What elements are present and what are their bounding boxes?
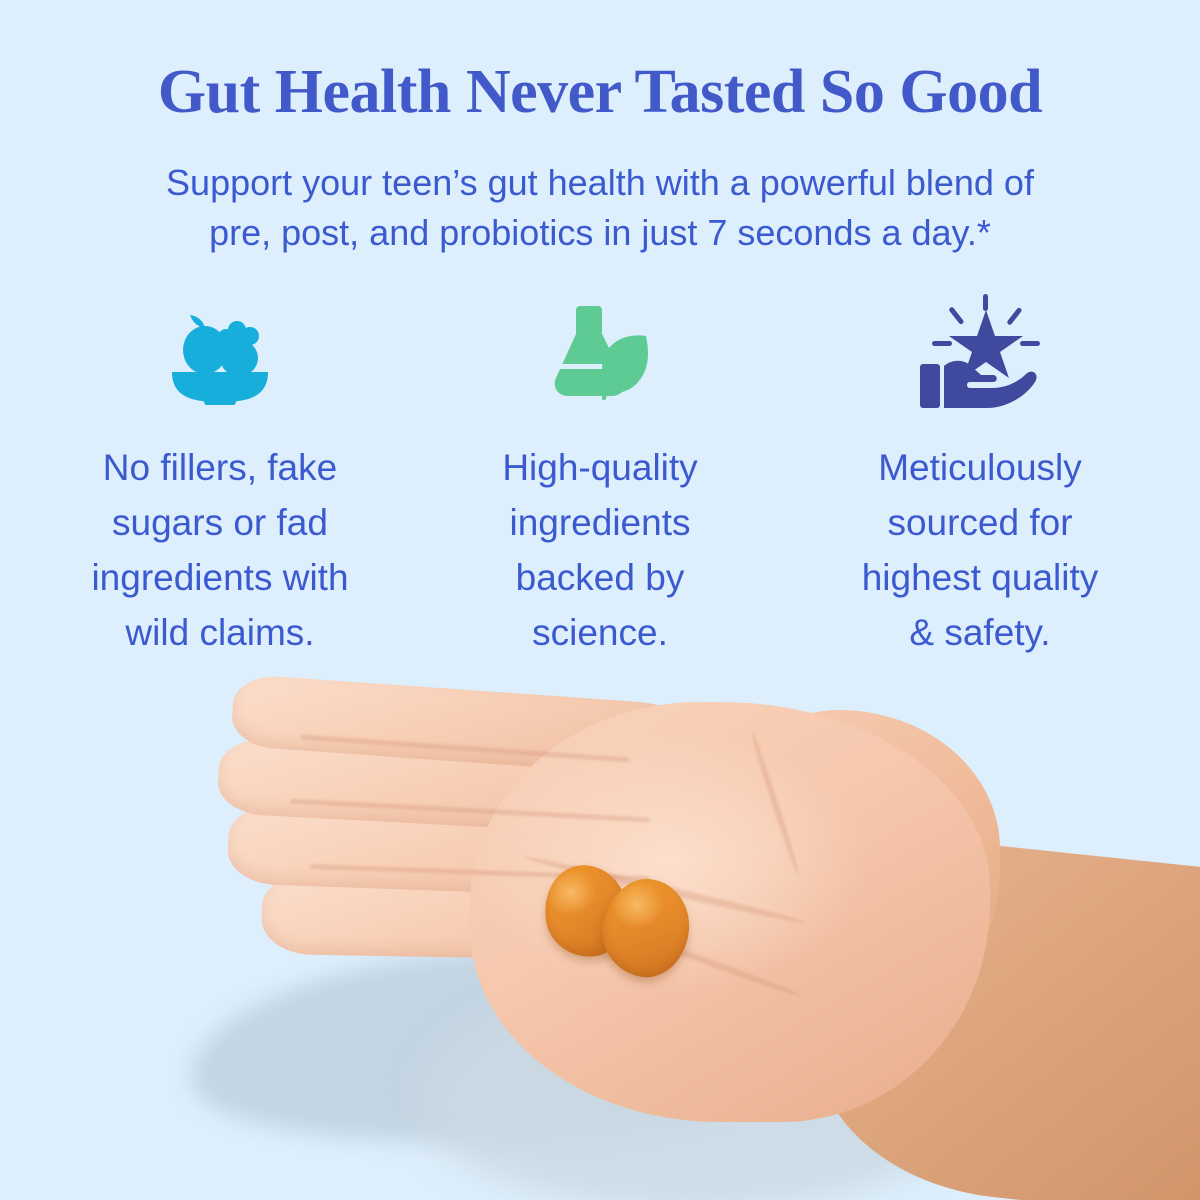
feature-line: No fillers, fake (91, 440, 348, 495)
feature-icon-wrapper (164, 292, 276, 412)
feature-line: High-quality (502, 440, 697, 495)
feature-icon-wrapper (918, 292, 1042, 412)
hand-star-icon (918, 294, 1042, 410)
product-feature-banner: Gut Health Never Tasted So Good Support … (0, 0, 1200, 1200)
feature-text: Meticulously sourced for highest quality… (862, 440, 1099, 660)
feature-line: ingredients with (91, 550, 348, 605)
page-subtitle: Support your teen’s gut health with a po… (130, 158, 1070, 258)
feature-line: sourced for (862, 495, 1099, 550)
feature-list: No fillers, fake sugars or fad ingredien… (40, 292, 1160, 660)
page-title: Gut Health Never Tasted So Good (0, 56, 1200, 128)
feature-line: ingredients (502, 495, 697, 550)
subtitle-line-1: Support your teen’s gut health with a po… (130, 158, 1070, 208)
feature-line: backed by (502, 550, 697, 605)
feature-line: Meticulously (862, 440, 1099, 495)
fruit-bowl-icon (164, 298, 276, 406)
feature-icon-wrapper (546, 292, 654, 412)
feature-text: High-quality ingredients backed by scien… (502, 440, 697, 660)
feature-line: highest quality (862, 550, 1099, 605)
open-hand-image (0, 650, 1200, 1200)
flask-leaf-icon (546, 298, 654, 406)
feature-item-high-quality: High-quality ingredients backed by scien… (420, 292, 780, 660)
feature-item-no-fillers: No fillers, fake sugars or fad ingredien… (40, 292, 400, 660)
subtitle-line-2: pre, post, and probiotics in just 7 seco… (130, 208, 1070, 258)
feature-item-meticulously-sourced: Meticulously sourced for highest quality… (800, 292, 1160, 660)
feature-line: sugars or fad (91, 495, 348, 550)
product-photo (0, 650, 1200, 1200)
feature-text: No fillers, fake sugars or fad ingredien… (91, 440, 348, 660)
